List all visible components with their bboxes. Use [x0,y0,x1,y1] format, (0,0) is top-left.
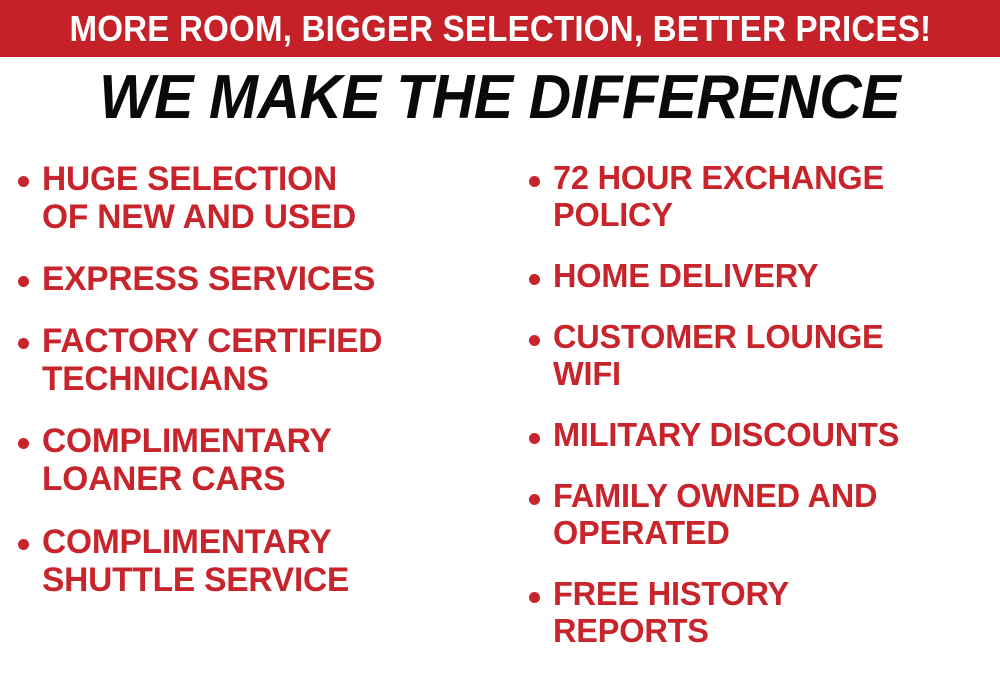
list-item: FAMILY OWNED AND OPERATED [529,478,1000,552]
list-item-label: COMPLIMENTARY SHUTTLE SERVICE [42,523,349,599]
list-item-label: FAMILY OWNED AND OPERATED [553,478,877,552]
list-item-label: 72 HOUR EXCHANGE POLICY [553,160,884,234]
headline: WE MAKE THE DIFFERENCE [0,66,1000,129]
list-item: EXPRESS SERVICES [18,260,505,298]
bullet-dot-icon [18,276,29,287]
list-item: 72 HOUR EXCHANGE POLICY [529,160,1000,234]
bullet-dot-icon [529,274,540,285]
list-item-label: HUGE SELECTION OF NEW AND USED [42,160,356,236]
bullet-dot-icon [18,338,29,349]
list-item-label: MILITARY DISCOUNTS [553,417,899,454]
bullet-dot-icon [529,592,540,603]
list-item-label: COMPLIMENTARY LOANER CARS [42,422,332,498]
list-item-label: EXPRESS SERVICES [42,260,375,298]
benefits-column-left: HUGE SELECTION OF NEW AND USED EXPRESS S… [0,160,505,623]
benefits-columns: HUGE SELECTION OF NEW AND USED EXPRESS S… [0,160,1000,694]
bullet-dot-icon [529,335,540,346]
benefits-column-right: 72 HOUR EXCHANGE POLICY HOME DELIVERY CU… [505,160,1000,674]
list-item-label: FREE HISTORY REPORTS [553,576,789,650]
promo-banner-text: MORE ROOM, BIGGER SELECTION, BETTER PRIC… [69,11,931,47]
bullet-dot-icon [18,438,29,449]
list-item-label: FACTORY CERTIFIED TECHNICIANS [42,322,382,398]
list-item: HUGE SELECTION OF NEW AND USED [18,160,505,236]
list-item: MILITARY DISCOUNTS [529,417,1000,454]
promo-banner: MORE ROOM, BIGGER SELECTION, BETTER PRIC… [0,0,1000,57]
bullet-dot-icon [18,176,29,187]
list-item: HOME DELIVERY [529,258,1000,295]
bullet-dot-icon [18,539,29,550]
list-item: COMPLIMENTARY LOANER CARS [18,422,505,498]
bullet-dot-icon [529,433,540,444]
list-item: COMPLIMENTARY SHUTTLE SERVICE [18,523,505,599]
bullet-dot-icon [529,176,540,187]
list-item: FREE HISTORY REPORTS [529,576,1000,650]
list-item-label: CUSTOMER LOUNGE WIFI [553,319,884,393]
list-item: FACTORY CERTIFIED TECHNICIANS [18,322,505,398]
list-item: CUSTOMER LOUNGE WIFI [529,319,1000,393]
list-item-label: HOME DELIVERY [553,258,818,295]
dealership-benefits-poster: MORE ROOM, BIGGER SELECTION, BETTER PRIC… [0,0,1000,694]
bullet-dot-icon [529,494,540,505]
headline-text: WE MAKE THE DIFFERENCE [99,66,900,129]
